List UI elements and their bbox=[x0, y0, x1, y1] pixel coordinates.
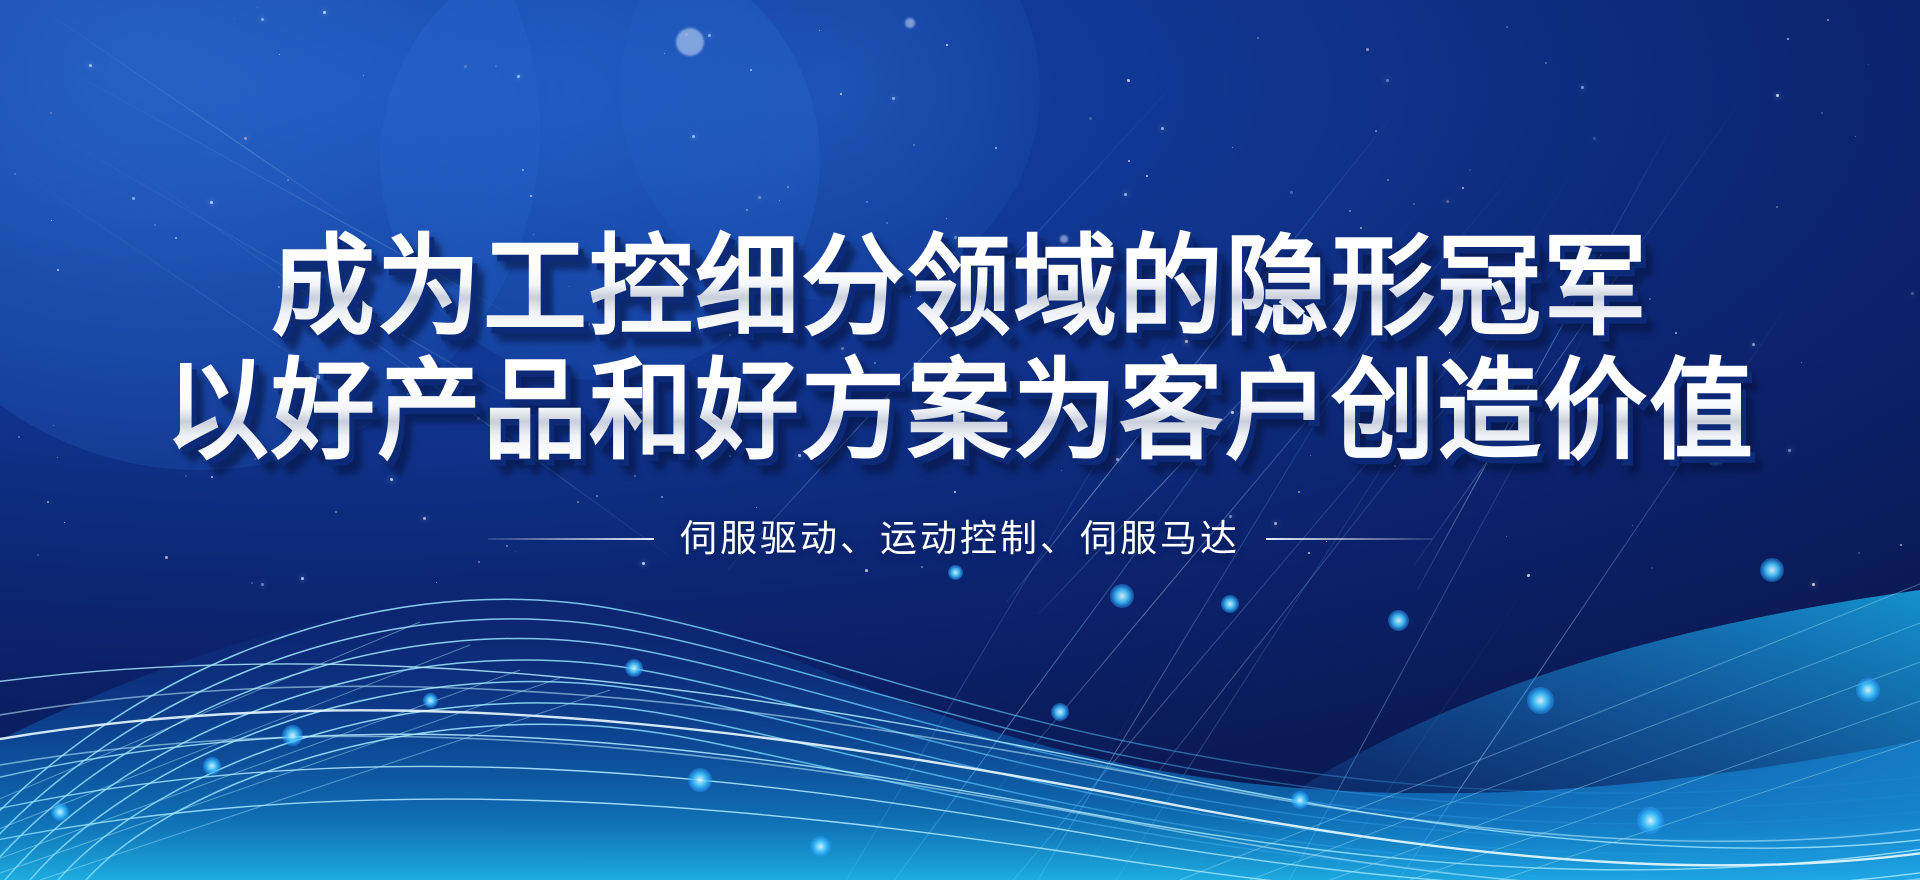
headline-line-1: 成为工控细分领域的隐形冠军 bbox=[0, 229, 1920, 348]
star-dot bbox=[234, 18, 235, 19]
star-dot bbox=[913, 144, 915, 146]
star-dot bbox=[746, 209, 748, 211]
star-dot bbox=[1776, 94, 1779, 97]
star-dot bbox=[1827, 19, 1829, 21]
star-dot bbox=[1128, 160, 1130, 162]
star-dot bbox=[1462, 187, 1464, 189]
star-dot bbox=[1868, 64, 1869, 65]
star-dot bbox=[1146, 175, 1148, 177]
star-dot bbox=[530, 195, 532, 197]
star-dot bbox=[1161, 127, 1164, 130]
star-dot bbox=[892, 97, 895, 100]
star-dot bbox=[1855, 136, 1856, 137]
star-dot bbox=[261, 18, 264, 21]
star-dot bbox=[1545, 62, 1547, 64]
star-dot bbox=[946, 44, 948, 46]
star-dot bbox=[132, 197, 135, 200]
star-dot bbox=[995, 147, 997, 149]
star-dot bbox=[1124, 193, 1127, 196]
star-dot bbox=[50, 112, 52, 114]
star-dot bbox=[1413, 203, 1415, 205]
star-dot bbox=[1593, 137, 1596, 140]
light-streak bbox=[31, 1, 346, 216]
star-dot-large bbox=[676, 28, 704, 56]
subtitle-text: 伺服驱动、运动控制、伺服马达 bbox=[680, 520, 1240, 557]
star-dot bbox=[495, 65, 497, 67]
star-dot bbox=[14, 173, 16, 175]
star-dot bbox=[758, 196, 761, 199]
star-dot bbox=[1776, 206, 1778, 208]
star-dot bbox=[819, 30, 820, 31]
subtitle-row: 伺服驱动、运动控制、伺服马达 bbox=[0, 520, 1920, 557]
banner-content: 成为工控细分领域的隐形冠军 以好产品和好方案为客户创造价值 伺服驱动、运动控制、… bbox=[0, 232, 1920, 557]
star-dot bbox=[1290, 191, 1293, 194]
star-dot bbox=[886, 222, 888, 224]
star-dot bbox=[787, 186, 789, 188]
star-dot-large bbox=[905, 18, 915, 28]
star-dot bbox=[154, 224, 156, 226]
star-dot bbox=[1386, 79, 1389, 82]
star-dot bbox=[1387, 179, 1389, 181]
star-dot bbox=[1787, 38, 1789, 40]
star-dot bbox=[1257, 37, 1259, 39]
star-dot bbox=[1469, 169, 1471, 171]
star-dot bbox=[464, 65, 467, 68]
star-dot bbox=[1349, 210, 1351, 212]
promo-banner: 成为工控细分领域的隐形冠军 以好产品和好方案为客户创造价值 伺服驱动、运动控制、… bbox=[0, 0, 1920, 880]
star-dot bbox=[323, 11, 326, 14]
star-dot bbox=[1127, 79, 1130, 82]
star-dot bbox=[1375, 130, 1377, 132]
star-dot bbox=[708, 34, 711, 37]
star-dot bbox=[946, 218, 947, 219]
subtitle-rule-right bbox=[1266, 538, 1432, 540]
star-dot bbox=[1506, 26, 1508, 28]
star-dot bbox=[1089, 117, 1092, 120]
star-dot bbox=[840, 93, 842, 95]
star-dot bbox=[89, 64, 92, 67]
star-dot bbox=[692, 135, 695, 138]
subtitle-rule-left bbox=[488, 538, 654, 540]
star-dot bbox=[779, 200, 780, 201]
star-dot bbox=[1366, 48, 1369, 51]
star-dot bbox=[685, 33, 688, 36]
star-dot bbox=[1446, 200, 1449, 203]
headline-line-2: 以好产品和好方案为客户创造价值 bbox=[0, 353, 1920, 472]
star-dot bbox=[750, 69, 752, 71]
star-dot bbox=[51, 220, 52, 221]
star-dot bbox=[363, 75, 364, 76]
star-dot bbox=[279, 54, 280, 55]
star-dot bbox=[517, 75, 520, 78]
star-dot bbox=[1232, 147, 1233, 148]
star-dot bbox=[257, 7, 258, 8]
star-dot bbox=[1581, 86, 1584, 89]
star-dot bbox=[244, 137, 247, 140]
star-dot bbox=[210, 201, 213, 204]
star-dot bbox=[287, 179, 289, 181]
star-dot bbox=[522, 169, 524, 171]
star-dot bbox=[664, 53, 665, 54]
star-dot bbox=[866, 201, 868, 203]
star-dot bbox=[1821, 112, 1823, 114]
